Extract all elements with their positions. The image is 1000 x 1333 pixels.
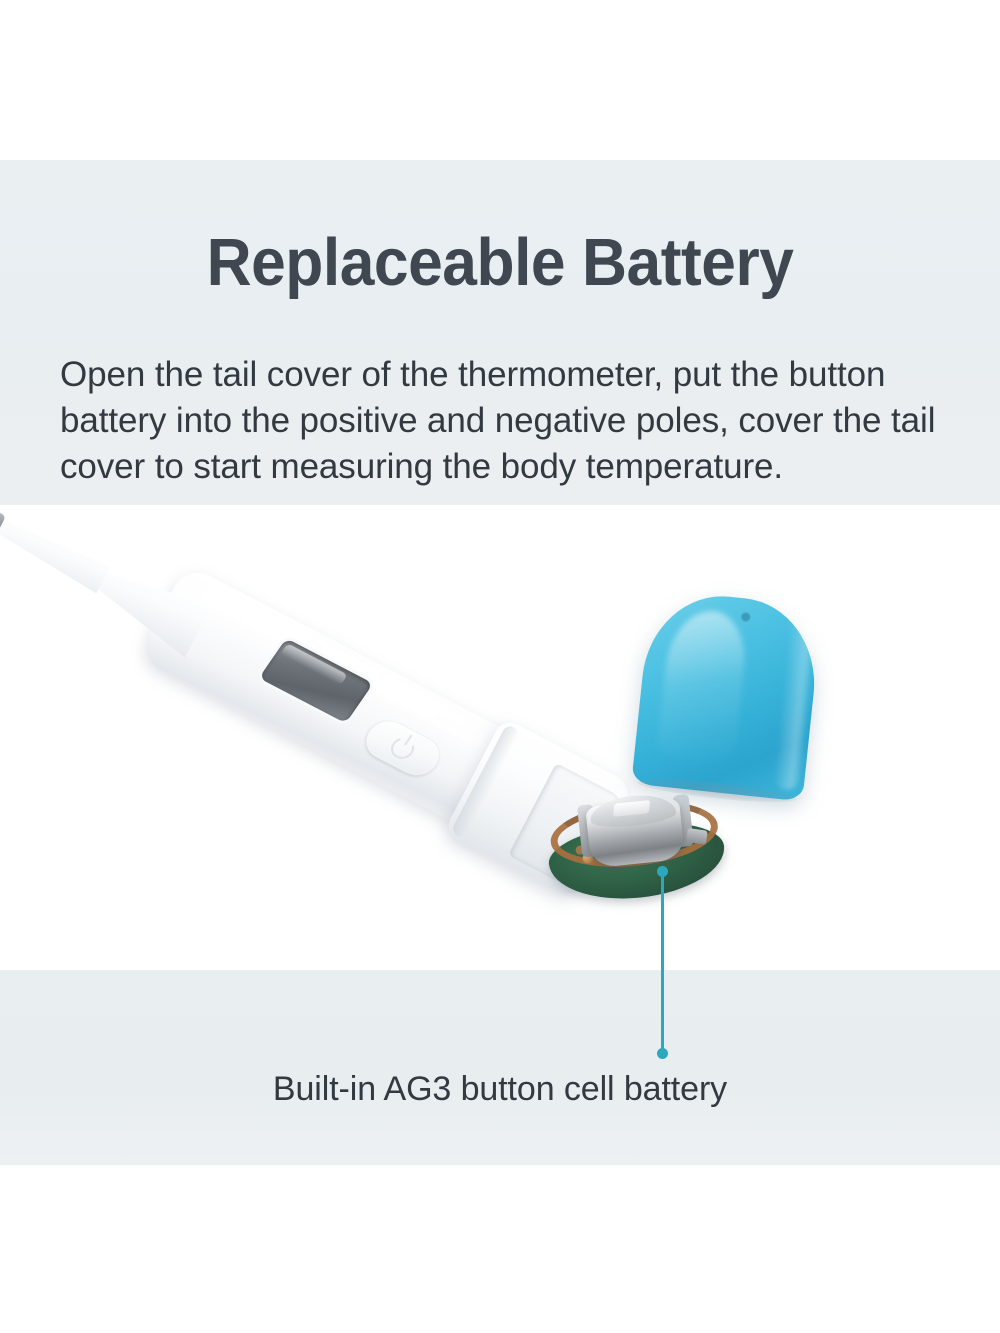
callout-caption: Built-in AG3 button cell battery xyxy=(0,1070,1000,1109)
tail-cap xyxy=(631,589,823,802)
callout-leader-line xyxy=(661,872,664,1053)
body-shell-needle xyxy=(0,510,110,594)
thermometer-body xyxy=(66,522,617,885)
battery-clip-tab xyxy=(686,828,708,845)
power-icon xyxy=(387,734,419,762)
callout-endpoint-dot xyxy=(657,1048,668,1059)
product-photo xyxy=(0,505,1000,970)
description-text: Open the tail cover of the thermometer, … xyxy=(60,352,955,491)
product-feature-card: Replaceable Battery Open the tail cover … xyxy=(0,0,1000,1333)
page-title: Replaceable Battery xyxy=(35,228,965,298)
background-band-top-white xyxy=(0,0,1000,160)
background-band-caption xyxy=(0,970,1000,1165)
background-band-bottom-white xyxy=(0,1165,1000,1333)
battery-assembly xyxy=(543,785,743,914)
